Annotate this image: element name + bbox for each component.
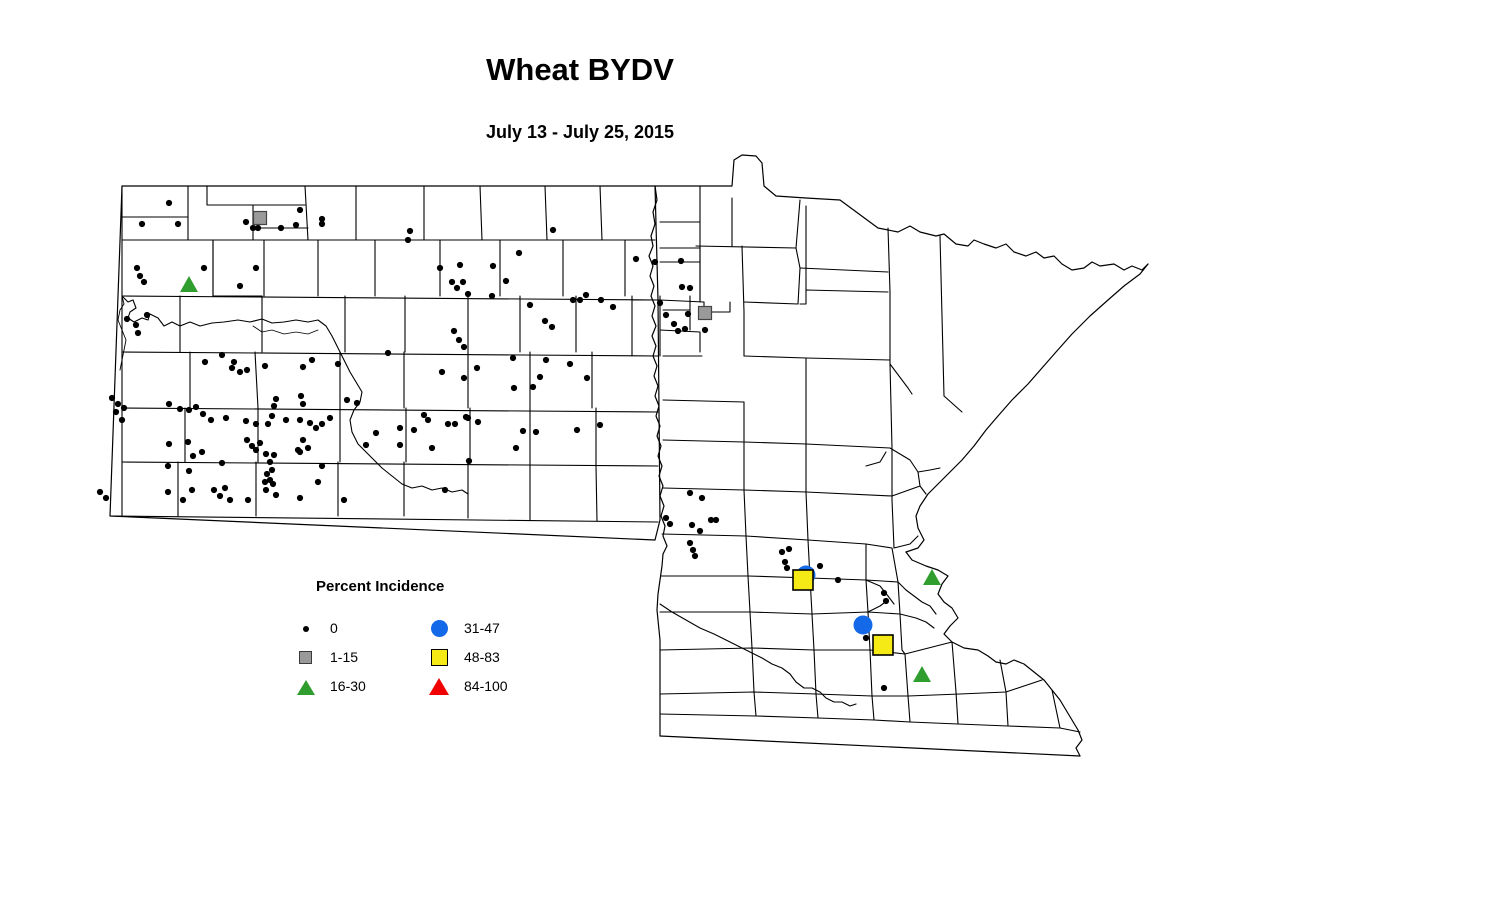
incidence-marker-0 xyxy=(574,427,580,433)
incidence-marker-0 xyxy=(421,412,427,418)
state-county-map xyxy=(0,0,1503,900)
incidence-marker-0 xyxy=(411,427,417,433)
incidence-marker-0 xyxy=(687,490,693,496)
incidence-marker-0 xyxy=(682,326,688,332)
nd-outline xyxy=(110,186,660,540)
incidence-marker-0 xyxy=(186,468,192,474)
incidence-marker-0 xyxy=(597,422,603,428)
incidence-marker-0 xyxy=(133,322,139,328)
incidence-marker-0 xyxy=(584,375,590,381)
incidence-marker-0 xyxy=(263,487,269,493)
incidence-marker-0 xyxy=(243,219,249,225)
incidence-marker-0 xyxy=(549,324,555,330)
incidence-marker-0 xyxy=(141,279,147,285)
incidence-marker-0 xyxy=(442,487,448,493)
incidence-marker-0 xyxy=(190,453,196,459)
incidence-marker-48-83 xyxy=(873,635,893,655)
incidence-marker-0 xyxy=(223,415,229,421)
incidence-marker-0 xyxy=(300,401,306,407)
incidence-marker-0 xyxy=(530,384,536,390)
incidence-marker-16-30 xyxy=(180,276,198,292)
legend-label-48-83: 48-83 xyxy=(464,649,500,665)
incidence-marker-0 xyxy=(253,421,259,427)
incidence-marker-0 xyxy=(782,559,788,565)
yellow-square-icon xyxy=(428,647,454,669)
incidence-marker-0 xyxy=(293,222,299,228)
incidence-marker-0 xyxy=(185,439,191,445)
incidence-marker-0 xyxy=(219,460,225,466)
incidence-marker-0 xyxy=(863,635,869,641)
incidence-marker-0 xyxy=(475,419,481,425)
incidence-marker-0 xyxy=(835,577,841,583)
legend-label-31-47: 31-47 xyxy=(464,620,500,636)
incidence-marker-0 xyxy=(881,685,887,691)
incidence-marker-0 xyxy=(262,363,268,369)
incidence-marker-0 xyxy=(460,279,466,285)
incidence-marker-0 xyxy=(429,445,435,451)
incidence-marker-0 xyxy=(407,228,413,234)
incidence-marker-0 xyxy=(253,265,259,271)
incidence-marker-0 xyxy=(363,442,369,448)
incidence-marker-0 xyxy=(537,374,543,380)
incidence-marker-0 xyxy=(397,425,403,431)
incidence-marker-0 xyxy=(461,375,467,381)
incidence-marker-0 xyxy=(510,355,516,361)
incidence-marker-0 xyxy=(687,540,693,546)
incidence-marker-0 xyxy=(570,297,576,303)
incidence-marker-0 xyxy=(817,563,823,569)
incidence-marker-0 xyxy=(263,451,269,457)
incidence-marker-0 xyxy=(186,407,192,413)
incidence-marker-0 xyxy=(269,413,275,419)
incidence-marker-0 xyxy=(679,284,685,290)
legend-label-0: 0 xyxy=(330,620,338,636)
red-triangle-icon xyxy=(428,676,454,698)
incidence-marker-0 xyxy=(373,430,379,436)
incidence-marker-0 xyxy=(675,328,681,334)
incidence-marker-0 xyxy=(134,265,140,271)
incidence-marker-0 xyxy=(692,553,698,559)
incidence-marker-0 xyxy=(319,421,325,427)
incidence-marker-0 xyxy=(97,489,103,495)
incidence-marker-0 xyxy=(300,437,306,443)
incidence-marker-0 xyxy=(257,440,263,446)
incidence-marker-0 xyxy=(457,262,463,268)
incidence-marker-0 xyxy=(119,417,125,423)
incidence-marker-0 xyxy=(663,312,669,318)
incidence-marker-0 xyxy=(461,344,467,350)
incidence-marker-0 xyxy=(445,421,451,427)
incidence-marker-0 xyxy=(253,447,259,453)
incidence-marker-0 xyxy=(115,401,121,407)
incidence-marker-0 xyxy=(166,441,172,447)
incidence-marker-0 xyxy=(699,495,705,501)
incidence-marker-0 xyxy=(354,400,360,406)
incidence-marker-0 xyxy=(271,452,277,458)
incidence-marker-0 xyxy=(211,487,217,493)
incidence-marker-0 xyxy=(193,404,199,410)
legend-title: Percent Incidence xyxy=(316,578,444,595)
incidence-marker-0 xyxy=(262,479,268,485)
incidence-marker-0 xyxy=(319,221,325,227)
incidence-marker-0 xyxy=(237,283,243,289)
incidence-marker-0 xyxy=(511,385,517,391)
incidence-marker-31-47 xyxy=(854,616,873,635)
incidence-marker-16-30 xyxy=(913,666,931,682)
incidence-marker-0 xyxy=(503,278,509,284)
incidence-marker-0 xyxy=(610,304,616,310)
legend-label-84-100: 84-100 xyxy=(464,678,508,694)
incidence-marker-0 xyxy=(135,330,141,336)
incidence-marker-0 xyxy=(463,414,469,420)
incidence-marker-0 xyxy=(103,495,109,501)
incidence-marker-0 xyxy=(335,361,341,367)
incidence-marker-0 xyxy=(273,396,279,402)
incidence-marker-0 xyxy=(269,467,275,473)
incidence-marker-0 xyxy=(139,221,145,227)
incidence-marker-0 xyxy=(222,485,228,491)
incidence-marker-0 xyxy=(180,497,186,503)
incidence-marker-0 xyxy=(456,337,462,343)
incidence-marker-0 xyxy=(652,259,658,265)
incidence-marker-0 xyxy=(271,403,277,409)
incidence-marker-0 xyxy=(397,442,403,448)
incidence-marker-0 xyxy=(567,361,573,367)
incidence-marker-0 xyxy=(217,493,223,499)
incidence-marker-0 xyxy=(713,517,719,523)
map-legend: Percent Incidence 0 1-15 16-30 31-47 xyxy=(316,578,556,703)
incidence-marker-0 xyxy=(307,420,313,426)
incidence-marker-0 xyxy=(305,445,311,451)
incidence-marker-0 xyxy=(543,357,549,363)
incidence-marker-0 xyxy=(315,479,321,485)
legend-label-1-15: 1-15 xyxy=(330,649,358,665)
incidence-marker-0 xyxy=(405,237,411,243)
incidence-marker-0 xyxy=(697,528,703,534)
incidence-marker-0 xyxy=(245,497,251,503)
incidence-marker-0 xyxy=(300,364,306,370)
incidence-marker-0 xyxy=(177,406,183,412)
incidence-marker-0 xyxy=(520,428,526,434)
incidence-marker-0 xyxy=(166,401,172,407)
incidence-marker-0 xyxy=(883,598,889,604)
incidence-marker-0 xyxy=(166,200,172,206)
incidence-marker-0 xyxy=(297,207,303,213)
incidence-marker-0 xyxy=(202,359,208,365)
incidence-marker-0 xyxy=(489,293,495,299)
map-canvas xyxy=(0,0,1503,900)
incidence-marker-0 xyxy=(533,429,539,435)
incidence-marker-0 xyxy=(278,225,284,231)
incidence-marker-0 xyxy=(454,285,460,291)
incidence-marker-0 xyxy=(449,279,455,285)
incidence-marker-48-83 xyxy=(793,570,813,590)
incidence-marker-0 xyxy=(663,515,669,521)
incidence-marker-0 xyxy=(687,285,693,291)
incidence-marker-0 xyxy=(583,292,589,298)
incidence-marker-0 xyxy=(385,350,391,356)
incidence-marker-0 xyxy=(144,312,150,318)
incidence-marker-0 xyxy=(175,221,181,227)
incidence-marker-0 xyxy=(237,369,243,375)
map-page: Wheat BYDV July 13 - July 25, 2015 xyxy=(0,0,1503,900)
incidence-marker-0 xyxy=(327,415,333,421)
incidence-marker-0 xyxy=(229,365,235,371)
incidence-marker-0 xyxy=(201,265,207,271)
incidence-marker-0 xyxy=(265,421,271,427)
incidence-marker-0 xyxy=(465,291,471,297)
incidence-marker-0 xyxy=(297,449,303,455)
incidence-marker-0 xyxy=(341,497,347,503)
incidence-marker-0 xyxy=(466,458,472,464)
incidence-marker-0 xyxy=(550,227,556,233)
incidence-marker-0 xyxy=(702,327,708,333)
incidence-marker-0 xyxy=(124,316,130,322)
incidence-marker-0 xyxy=(474,365,480,371)
incidence-marker-0 xyxy=(109,395,115,401)
incidence-marker-1-15 xyxy=(254,212,267,225)
incidence-marker-0 xyxy=(319,463,325,469)
incidence-marker-0 xyxy=(227,497,233,503)
green-triangle-icon xyxy=(294,676,320,698)
incidence-marker-0 xyxy=(685,311,691,317)
incidence-marker-0 xyxy=(516,250,522,256)
incidence-marker-1-15 xyxy=(699,307,712,320)
gray-square-icon xyxy=(294,647,320,669)
incidence-marker-0 xyxy=(784,565,790,571)
incidence-marker-0 xyxy=(513,445,519,451)
incidence-marker-0 xyxy=(779,549,785,555)
incidence-marker-0 xyxy=(786,546,792,552)
incidence-marker-0 xyxy=(189,487,195,493)
incidence-marker-0 xyxy=(678,258,684,264)
incidence-marker-0 xyxy=(199,449,205,455)
incidence-marker-0 xyxy=(577,297,583,303)
incidence-marker-0 xyxy=(244,437,250,443)
incidence-marker-0 xyxy=(657,300,663,306)
blue-circle-icon xyxy=(428,618,454,640)
incidence-marker-0 xyxy=(344,397,350,403)
incidence-marker-0 xyxy=(667,521,673,527)
legend-label-16-30: 16-30 xyxy=(330,678,366,694)
incidence-marker-0 xyxy=(264,471,270,477)
incidence-marker-0 xyxy=(425,417,431,423)
incidence-marker-0 xyxy=(165,463,171,469)
incidence-marker-0 xyxy=(273,492,279,498)
incidence-marker-0 xyxy=(283,417,289,423)
incidence-marker-0 xyxy=(527,302,533,308)
incidence-marker-0 xyxy=(297,495,303,501)
incidence-marker-0 xyxy=(208,417,214,423)
incidence-marker-0 xyxy=(267,459,273,465)
black-dot-icon xyxy=(294,618,320,640)
incidence-marker-0 xyxy=(165,489,171,495)
incidence-marker-0 xyxy=(309,357,315,363)
incidence-marker-0 xyxy=(490,263,496,269)
incidence-marker-0 xyxy=(439,369,445,375)
incidence-marker-0 xyxy=(255,225,261,231)
incidence-marker-0 xyxy=(231,359,237,365)
incidence-marker-0 xyxy=(690,547,696,553)
incidence-marker-0 xyxy=(219,352,225,358)
incidence-marker-0 xyxy=(598,297,604,303)
incidence-marker-0 xyxy=(243,418,249,424)
incidence-marker-0 xyxy=(244,367,250,373)
incidence-marker-0 xyxy=(313,425,319,431)
incidence-marker-0 xyxy=(542,318,548,324)
incidence-marker-0 xyxy=(451,328,457,334)
incidence-marker-0 xyxy=(671,321,677,327)
incidence-marker-0 xyxy=(689,522,695,528)
incidence-marker-0 xyxy=(113,409,119,415)
incidence-marker-0 xyxy=(200,411,206,417)
incidence-marker-0 xyxy=(881,590,887,596)
incidence-marker-0 xyxy=(137,273,143,279)
incidence-marker-0 xyxy=(437,265,443,271)
incidence-marker-16-30 xyxy=(923,569,941,585)
incidence-marker-0 xyxy=(121,405,127,411)
incidence-marker-0 xyxy=(297,417,303,423)
incidence-marker-0 xyxy=(633,256,639,262)
incidence-marker-0 xyxy=(298,393,304,399)
incidence-marker-0 xyxy=(452,421,458,427)
